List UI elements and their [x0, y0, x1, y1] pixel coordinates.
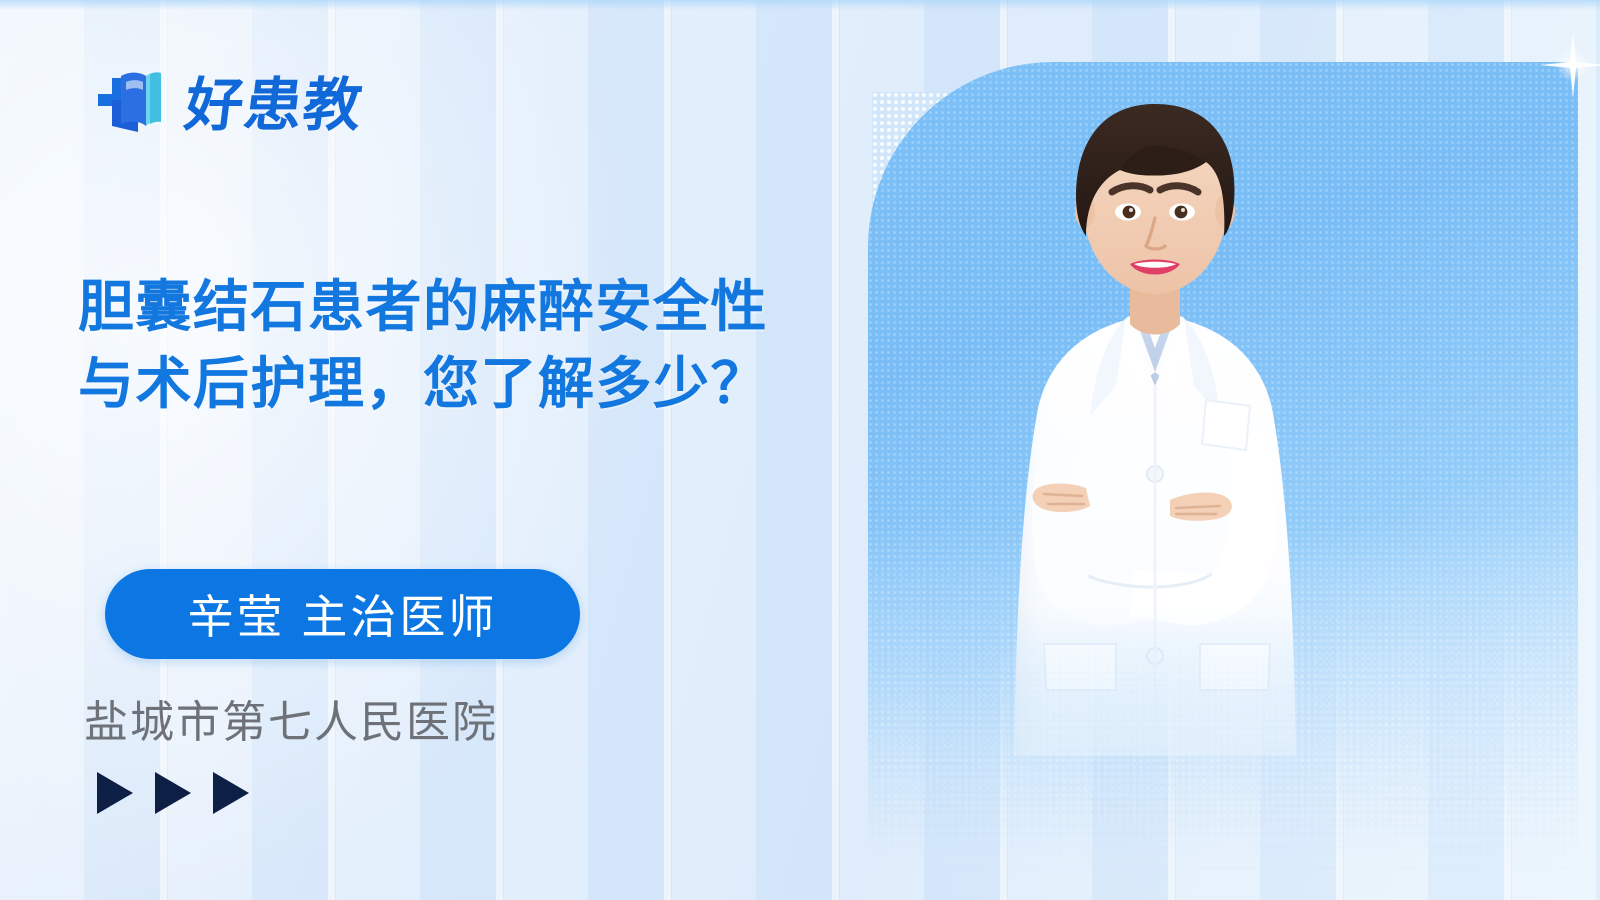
title-line-2: 与术后护理，您了解多少？: [78, 345, 878, 422]
speaker-name-title: 辛莹 主治医师: [188, 581, 498, 647]
title-line-1: 胆囊结石患者的麻醉安全性: [78, 275, 768, 338]
arrow-group: [94, 770, 252, 816]
medical-cross-book-icon: [88, 60, 172, 140]
brand-logo[interactable]: 好患教: [88, 58, 363, 142]
brand-name: 好患教: [181, 58, 368, 142]
poster-canvas: 好患教 胆囊结石患者的麻醉安全性 与术后护理，您了解多少？ 辛莹 主治医师 盐城…: [0, 0, 1600, 900]
play-triangle-icon: [94, 770, 136, 816]
hospital-name: 盐城市第七人民医院: [84, 686, 498, 750]
background-top-highlight: [0, 0, 1600, 10]
play-triangle-icon: [152, 770, 194, 816]
play-triangle-icon: [210, 770, 252, 816]
page-title: 胆囊结石患者的麻醉安全性 与术后护理，您了解多少？: [78, 268, 878, 423]
speaker-badge[interactable]: 辛莹 主治医师: [105, 569, 580, 659]
doctor-portrait: [920, 56, 1390, 866]
